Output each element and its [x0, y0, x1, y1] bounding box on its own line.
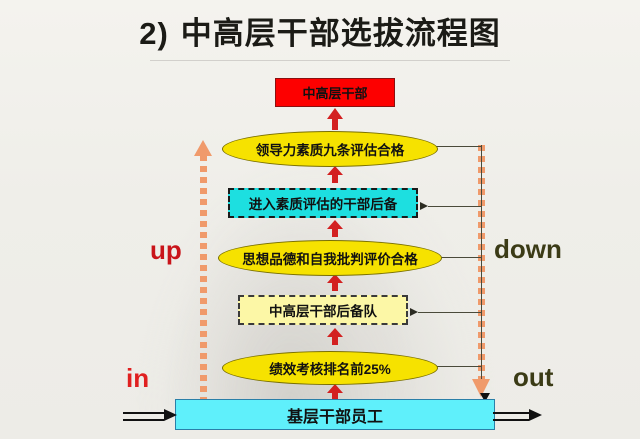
- connector-arrow-reserve-icon: [420, 202, 428, 210]
- down-channel-line: [478, 145, 485, 383]
- node-senior-cadre-reserve-pool[interactable]: 中高层干部后备队: [238, 295, 408, 325]
- node-performance-top25[interactable]: 绩效考核排名前25%: [222, 351, 438, 385]
- label-in: in: [126, 363, 149, 394]
- node-frontline-staff[interactable]: 基层干部员工: [175, 399, 495, 430]
- promote-arrow-pool-to-morals-icon: [327, 274, 343, 291]
- connector-arrow-pool-icon: [410, 308, 418, 316]
- node-leadership-nine-pass[interactable]: 领导力素质九条评估合格: [222, 131, 438, 167]
- up-channel-arrowhead-icon: [194, 140, 212, 156]
- promote-arrow-reserve-to-eval9-icon: [327, 166, 343, 183]
- slide-canvas: 2)中高层干部选拔流程图 中高层干部 领导力素质九条评估合格 进入素质评估的干部…: [0, 0, 640, 439]
- label-down: down: [494, 234, 562, 265]
- page-title: 2)中高层干部选拔流程图: [0, 8, 640, 53]
- in-arrow-icon: [123, 409, 177, 420]
- label-out: out: [513, 362, 553, 393]
- out-arrow-icon: [493, 409, 547, 420]
- label-up: up: [150, 235, 182, 266]
- promote-arrow-eval9-to-top-icon: [327, 108, 343, 130]
- up-channel-line: [200, 155, 207, 400]
- page-title-text: 中高层干部选拔流程图: [181, 16, 501, 51]
- header-divider: [150, 60, 510, 61]
- connector-down-to-pool: [418, 312, 482, 313]
- connector-down-to-reserve: [428, 206, 482, 207]
- node-entered-assessment-reserve[interactable]: 进入素质评估的干部后备: [228, 188, 418, 218]
- promote-arrow-morals-to-reserve-icon: [327, 220, 343, 237]
- connector-eval9-to-down: [430, 146, 482, 147]
- node-morals-selfcritique-pass[interactable]: 思想品德和自我批判评价合格: [218, 240, 442, 276]
- node-senior-cadre[interactable]: 中高层干部: [275, 78, 395, 107]
- page-title-number: 2): [139, 16, 169, 51]
- promote-arrow-perf-to-pool-icon: [327, 328, 343, 345]
